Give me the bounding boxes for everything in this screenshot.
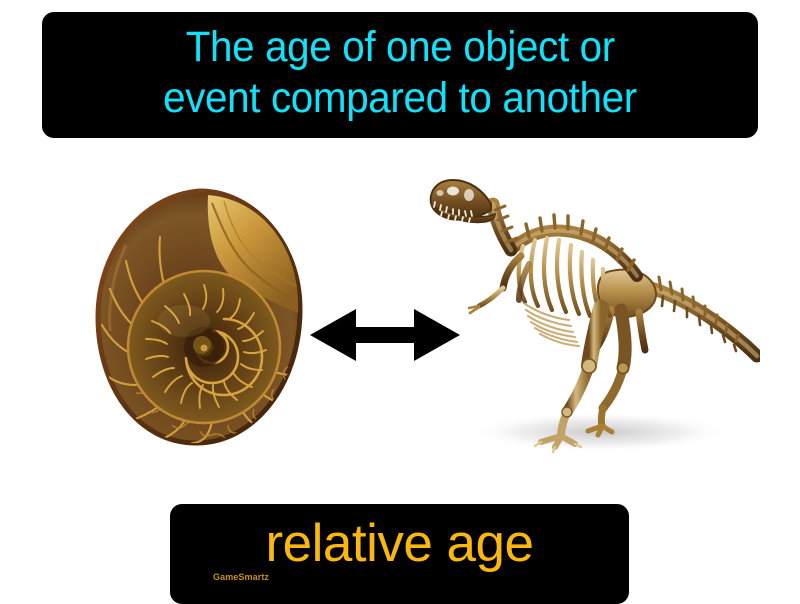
term-label-box: relative age GameSmartz: [170, 504, 629, 604]
gamesmartz-watermark: GameSmartz: [213, 572, 269, 582]
dinosaur-skeleton-image: [425, 160, 760, 460]
illustration-row: [0, 150, 800, 480]
skeleton-neck: [493, 204, 517, 250]
ammonite-fossil-image: [92, 185, 308, 453]
ammonite-inner-whorl: [128, 271, 280, 423]
skeleton-skull: [431, 180, 495, 222]
skeleton-tail: [651, 277, 757, 356]
term-label-text: relative age: [170, 504, 629, 582]
definition-line-2: event compared to another: [163, 73, 637, 124]
definition-banner: The age of one object or event compared …: [42, 12, 758, 138]
definition-line-1: The age of one object or: [185, 22, 614, 73]
